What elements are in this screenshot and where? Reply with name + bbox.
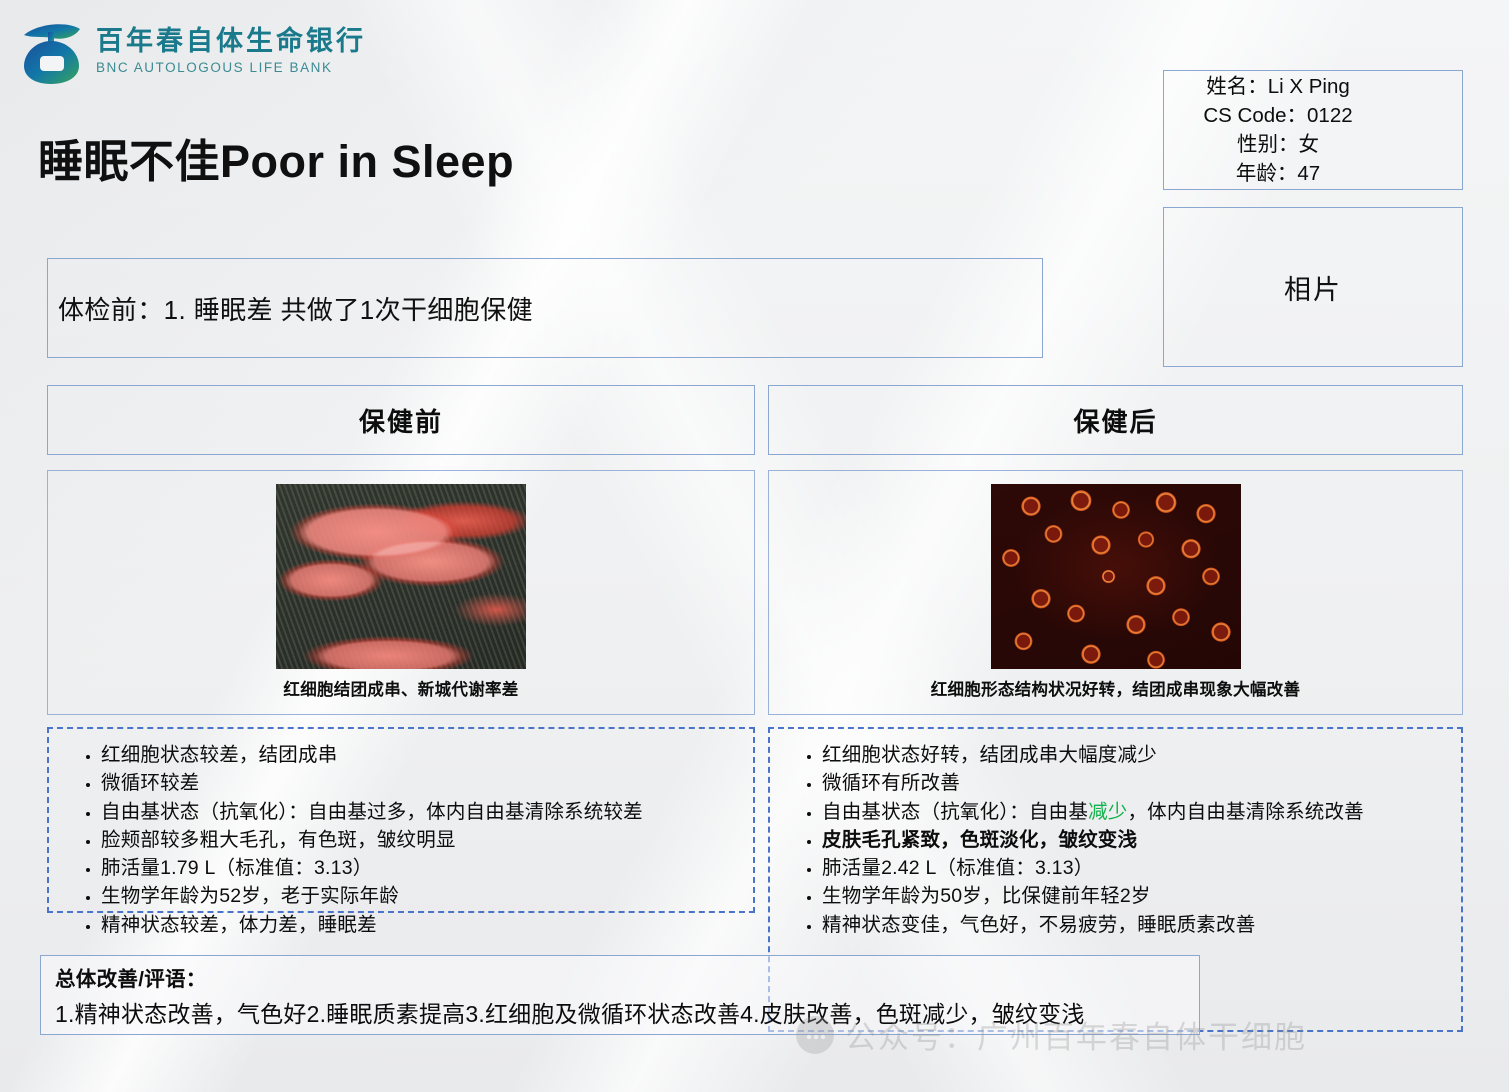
image-panel-after: 红细胞形态结构状况好转，结团成串现象大幅改善 <box>768 470 1463 715</box>
finding-item: 皮肤毛孔紧致，色斑淡化，皱纹变浅 <box>822 826 1447 854</box>
finding-item: 脸颊部较多粗大毛孔，有色斑，皱纹明显 <box>101 826 739 854</box>
finding-item: 红细胞状态好转，结团成串大幅度减少 <box>822 741 1447 769</box>
section-heading-after-label: 保健后 <box>1073 402 1157 439</box>
bnc-bai-logo-icon <box>18 16 86 86</box>
finding-item: 肺活量2.42 L（标准值：3.13） <box>822 854 1447 882</box>
finding-item: 生物学年龄为50岁，比保健前年轻2岁 <box>822 882 1447 910</box>
section-heading-before-label: 保健前 <box>359 402 443 439</box>
microscopy-caption-before: 红细胞结团成串、新城代谢率差 <box>283 676 518 700</box>
photo-placeholder: 相片 <box>1163 207 1463 367</box>
summary-text: 1.精神状态改善，气色好2.睡眠质素提高3.红细胞及微循环状态改善4.皮肤改善，… <box>55 995 1199 1029</box>
finding-item: 自由基状态（抗氧化）：自由基减少，体内自由基清除系统改善 <box>822 798 1447 826</box>
patient-name: 姓名：Li X Ping <box>1206 72 1350 101</box>
pre-exam-note-box: 体检前：1. 睡眠差 共做了1次干细胞保健 <box>47 258 1043 358</box>
section-heading-after: 保健后 <box>768 385 1463 455</box>
finding-item: 自由基状态（抗氧化）：自由基过多，体内自由基清除系统较差 <box>101 798 739 826</box>
findings-list-after: 红细胞状态好转，结团成串大幅度减少微循环有所改善自由基状态（抗氧化）：自由基减少… <box>792 741 1447 939</box>
slide-canvas: 百年春自体生命银行 BNC AUTOLOGOUS LIFE BANK 睡眠不佳P… <box>0 0 1509 1092</box>
summary-box: 总体改善/评语： 1.精神状态改善，气色好2.睡眠质素提高3.红细胞及微循环状态… <box>40 955 1200 1035</box>
patient-cs-code: CS Code：0122 <box>1203 101 1352 130</box>
finding-item: 红细胞状态较差，结团成串 <box>101 741 739 769</box>
finding-item: 微循环有所改善 <box>822 769 1447 797</box>
finding-item: 精神状态较差，体力差，睡眠差 <box>101 911 739 939</box>
microscopy-image-before <box>276 484 526 669</box>
finding-item: 微循环较差 <box>101 769 739 797</box>
page-title: 睡眠不佳Poor in Sleep <box>38 125 514 190</box>
image-panel-before: 红细胞结团成串、新城代谢率差 <box>47 470 755 715</box>
findings-box-before: 红细胞状态较差，结团成串微循环较差自由基状态（抗氧化）：自由基过多，体内自由基清… <box>47 727 755 913</box>
patient-gender: 性别：女 <box>1237 130 1319 159</box>
highlighted-term: 减少 <box>1088 801 1127 823</box>
findings-list-before: 红细胞状态较差，结团成串微循环较差自由基状态（抗氧化）：自由基过多，体内自由基清… <box>71 741 739 939</box>
patient-info-box: 姓名：Li X Ping CS Code：0122 性别：女 年龄：47 <box>1163 70 1463 190</box>
patient-age: 年龄：47 <box>1236 159 1320 188</box>
summary-title: 总体改善/评语： <box>55 962 1199 992</box>
microscopy-caption-after: 红细胞形态结构状况好转，结团成串现象大幅改善 <box>931 676 1301 700</box>
finding-item: 生物学年龄为52岁，老于实际年龄 <box>101 882 739 910</box>
pre-exam-note-text: 体检前：1. 睡眠差 共做了1次干细胞保健 <box>58 290 533 327</box>
section-heading-before: 保健前 <box>47 385 755 455</box>
brand-name-en: BNC AUTOLOGOUS LIFE BANK <box>96 60 366 76</box>
microscopy-image-after <box>991 484 1241 669</box>
brand-name: 百年春自体生命银行 BNC AUTOLOGOUS LIFE BANK <box>96 26 366 76</box>
finding-item: 肺活量1.79 L（标准值：3.13） <box>101 854 739 882</box>
brand-name-cn: 百年春自体生命银行 <box>96 26 366 57</box>
brand-logo: 百年春自体生命银行 BNC AUTOLOGOUS LIFE BANK <box>18 16 366 86</box>
finding-item: 精神状态变佳，气色好，不易疲劳，睡眠质素改善 <box>822 911 1447 939</box>
photo-placeholder-label: 相片 <box>1284 268 1342 307</box>
